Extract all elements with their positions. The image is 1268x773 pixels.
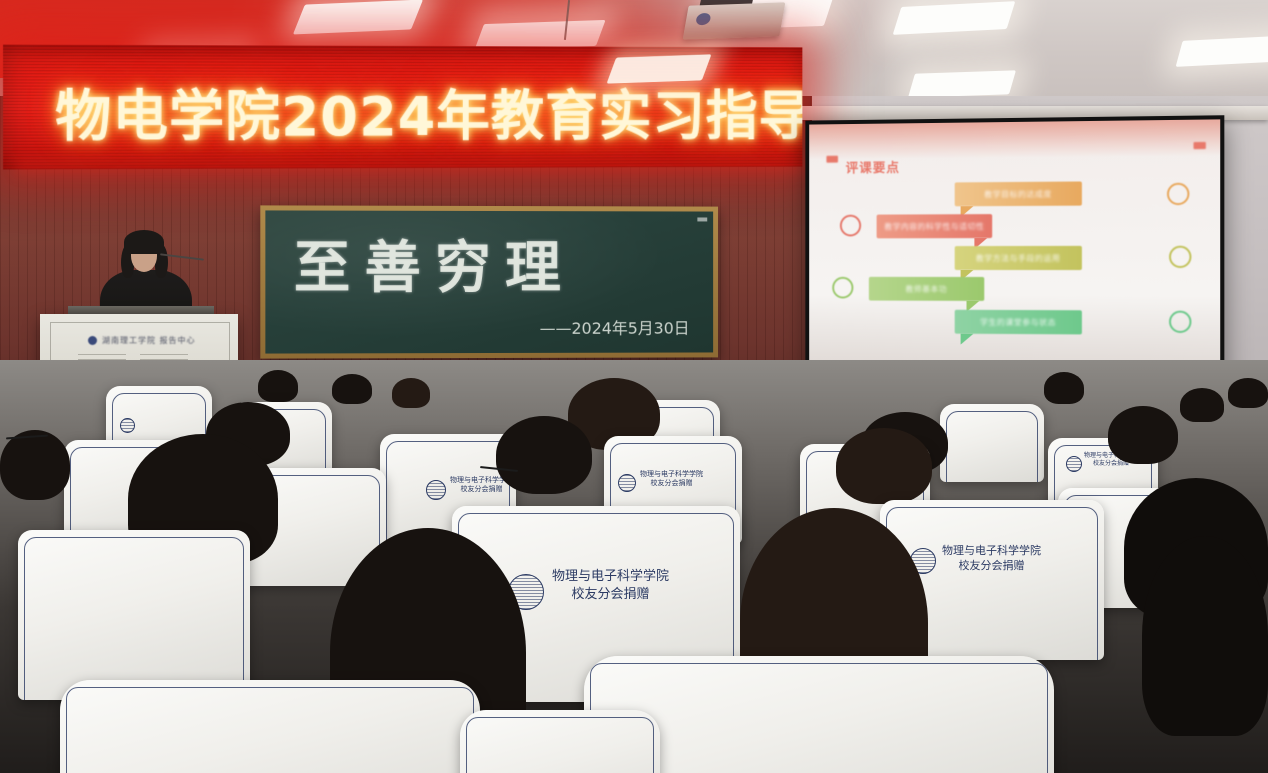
- audience-head: [1044, 372, 1084, 404]
- chair-seal-icon: [426, 480, 446, 500]
- screen-light-wash: [809, 119, 1220, 160]
- slide-callout-bubble: 教学目标的达成度: [955, 181, 1082, 206]
- slide-dot-marker: [1167, 183, 1189, 205]
- chair-label: 物理与电子科学学院 校友分会捐赠: [552, 568, 669, 603]
- blackboard-surface: 至善穷理 ——2024年5月30日: [265, 210, 713, 353]
- slide-dot-marker: [832, 277, 853, 299]
- slide-callout-label: 教师基本功: [906, 283, 948, 294]
- seat-chair[interactable]: [18, 530, 250, 700]
- podium-logo-icon: [88, 336, 97, 345]
- chair-label-line2: 校友分会捐赠: [450, 485, 513, 494]
- audience-head: [496, 416, 592, 494]
- slide-callout-label: 教学内容的科学性与适切性: [884, 221, 984, 232]
- chalk-mark: [697, 217, 707, 221]
- audience-head: [0, 430, 70, 500]
- ceiling-light-panel: [1176, 35, 1268, 67]
- slide-callout-label: 教学方法与手段的运用: [976, 252, 1060, 263]
- lecture-hall-photo: 物电学院2024年教育实习指导培训 至善穷理 ——2024年5月30日 评课要点…: [0, 0, 1268, 773]
- blackboard: 至善穷理 ——2024年5月30日: [260, 205, 718, 358]
- audience-head: [1180, 388, 1224, 422]
- chair-label-line2: 校友分会捐赠: [552, 586, 669, 604]
- led-banner-glow: [16, 160, 806, 178]
- slide-title: 评课要点: [846, 157, 900, 176]
- chair-label-line1: 物理与电子科学学院: [552, 568, 669, 586]
- chair-label-line2: 校友分会捐赠: [942, 559, 1041, 574]
- slide-callout-bubble: 教学内容的科学性与适切性: [877, 214, 993, 238]
- slide-callout-bubble: 教师基本功: [869, 277, 984, 301]
- slide-logo-icon: [1194, 142, 1206, 149]
- audience-head: [392, 378, 430, 408]
- led-banner-text: 物电学院2024年教育实习指导培训: [55, 71, 802, 152]
- ceiling-light-panel: [893, 1, 1016, 35]
- slide-callout-bubble: 教学方法与手段的运用: [955, 246, 1082, 270]
- audience-head: [1108, 406, 1178, 464]
- slide-callout-bubble: 学生的课堂参与状态: [955, 310, 1082, 335]
- chair-seal-icon: [618, 474, 636, 492]
- ceiling-light-panel: [607, 54, 712, 83]
- ceiling-light-panel: [293, 0, 423, 35]
- chair-label: 物理与电子科学学院 校友分会捐赠: [942, 544, 1041, 574]
- chair-seal-icon: [120, 418, 135, 433]
- slide-callout-label: 教学目标的达成度: [984, 188, 1052, 199]
- seat-chair[interactable]: [940, 404, 1044, 482]
- speaker-hair: [124, 230, 164, 254]
- ceiling-light-panel: [908, 70, 1016, 97]
- bubble-tail: [961, 334, 974, 345]
- ceiling-projector: [683, 2, 786, 39]
- podium-label: 湖南理工学院 报告中心: [102, 335, 196, 346]
- chair-label-line1: 物理与电子科学学院: [942, 544, 1041, 559]
- blackboard-date: ——2024年5月30日: [540, 315, 690, 339]
- audience-head: [332, 374, 372, 404]
- slide-dot-marker: [1169, 246, 1191, 268]
- chair-seal-icon: [1066, 456, 1082, 472]
- chair-label-line2: 校友分会捐赠: [640, 479, 703, 488]
- blackboard-headline: 至善穷理: [294, 223, 575, 305]
- slide-dot-marker: [840, 215, 861, 237]
- audience-head: [836, 428, 932, 504]
- audience-area: 物理与电子科学学院 校友分会捐赠 物理与电子科学学院 校友分会捐赠 物理与电子科…: [0, 360, 1268, 773]
- slide-logo-icon: [826, 156, 838, 163]
- slide-callout-label: 学生的课堂参与状态: [980, 316, 1056, 327]
- seat-chair[interactable]: [460, 710, 660, 773]
- audience-head: [258, 370, 298, 402]
- chair-label: 物理与电子科学学院 校友分会捐赠: [640, 470, 703, 489]
- audience-head: [1142, 536, 1268, 736]
- slide-dot-marker: [1169, 311, 1191, 333]
- audience-head: [1228, 378, 1268, 408]
- seat-chair[interactable]: [60, 680, 480, 773]
